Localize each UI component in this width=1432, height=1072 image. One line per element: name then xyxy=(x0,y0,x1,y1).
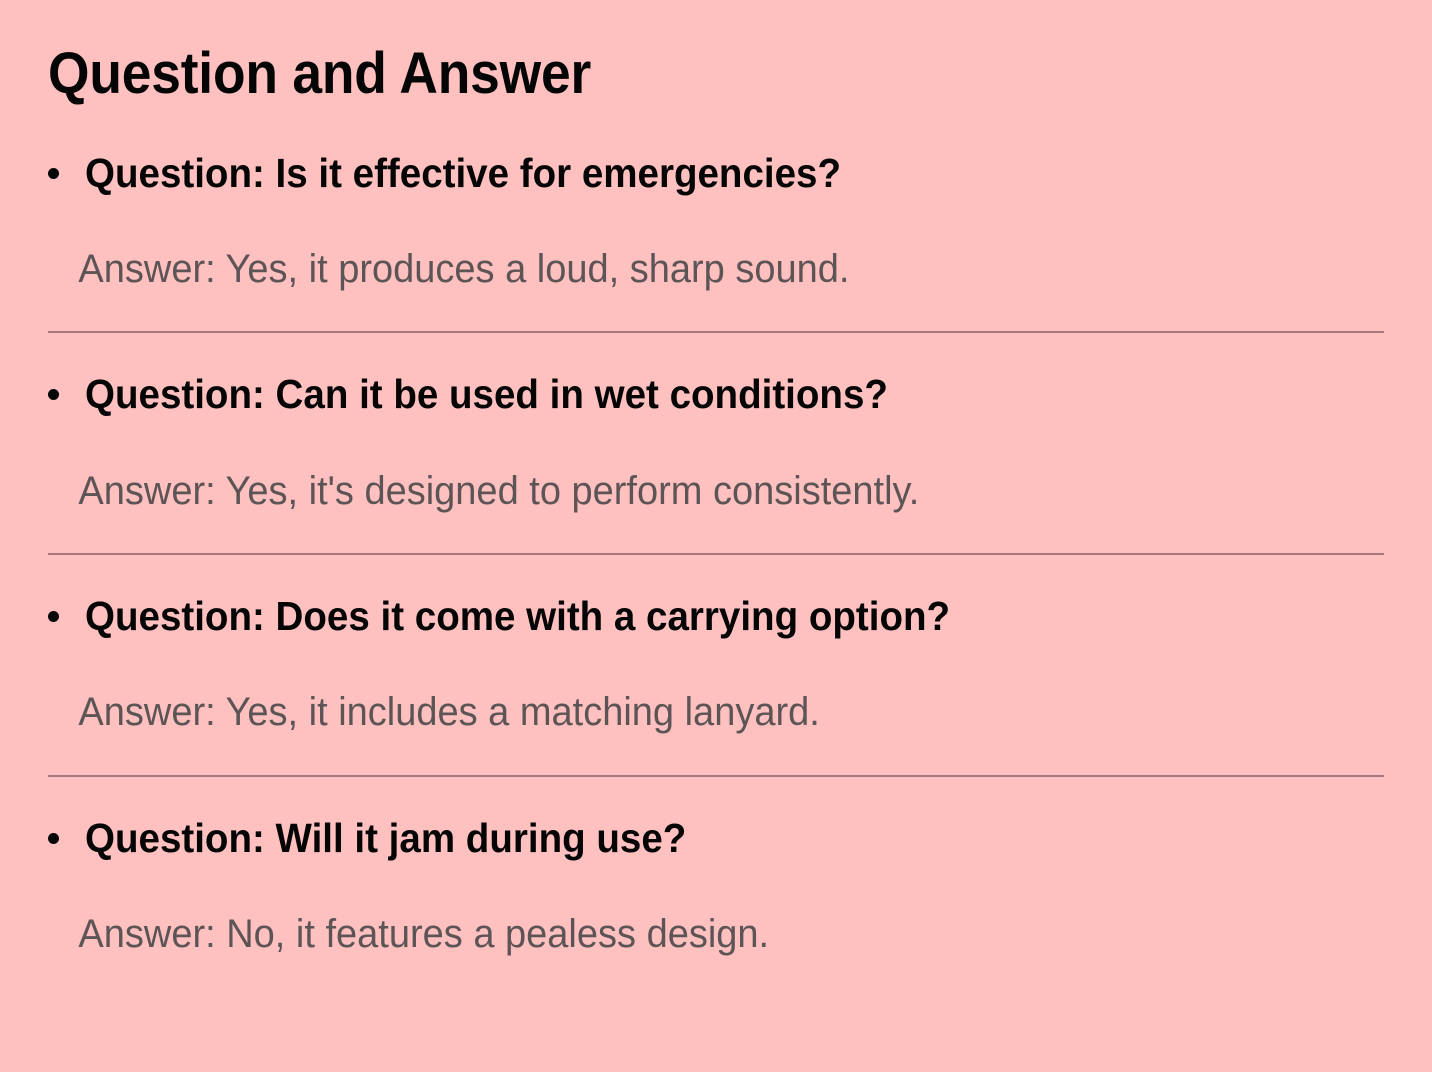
qa-list: Question: Is it effective for emergencie… xyxy=(48,149,1384,958)
list-item: Question: Does it come with a carrying o… xyxy=(48,555,1384,777)
list-item: Question: Can it be used in wet conditio… xyxy=(48,333,1384,555)
qa-question-row: Question: Is it effective for emergencie… xyxy=(48,149,1384,197)
qa-question-text: Question: Will it jam during use? xyxy=(85,814,1306,862)
list-item: Question: Is it effective for emergencie… xyxy=(48,149,1384,334)
qa-question-row: Question: Does it come with a carrying o… xyxy=(48,555,1384,640)
bullet-icon xyxy=(48,833,59,844)
qa-answer-text: Answer: Yes, it produces a loud, sharp s… xyxy=(48,246,1317,293)
qa-question-row: Question: Will it jam during use? xyxy=(48,777,1384,862)
qa-question-text: Question: Is it effective for emergencie… xyxy=(85,149,1306,197)
qa-question-text: Question: Does it come with a carrying o… xyxy=(85,592,1306,640)
bullet-icon xyxy=(48,168,59,179)
list-item: Question: Will it jam during use? Answer… xyxy=(48,777,1384,959)
qa-answer-text: Answer: Yes, it's designed to perform co… xyxy=(48,468,1317,515)
bullet-icon xyxy=(48,389,59,400)
page-title: Question and Answer xyxy=(48,0,1277,105)
bullet-icon xyxy=(48,611,59,622)
qa-answer-text: Answer: Yes, it includes a matching lany… xyxy=(48,689,1317,736)
qa-question-text: Question: Can it be used in wet conditio… xyxy=(85,370,1306,418)
qa-answer-text: Answer: No, it features a pealess design… xyxy=(48,911,1317,958)
qa-page: Question and Answer Question: Is it effe… xyxy=(0,0,1432,1072)
qa-question-row: Question: Can it be used in wet conditio… xyxy=(48,333,1384,418)
